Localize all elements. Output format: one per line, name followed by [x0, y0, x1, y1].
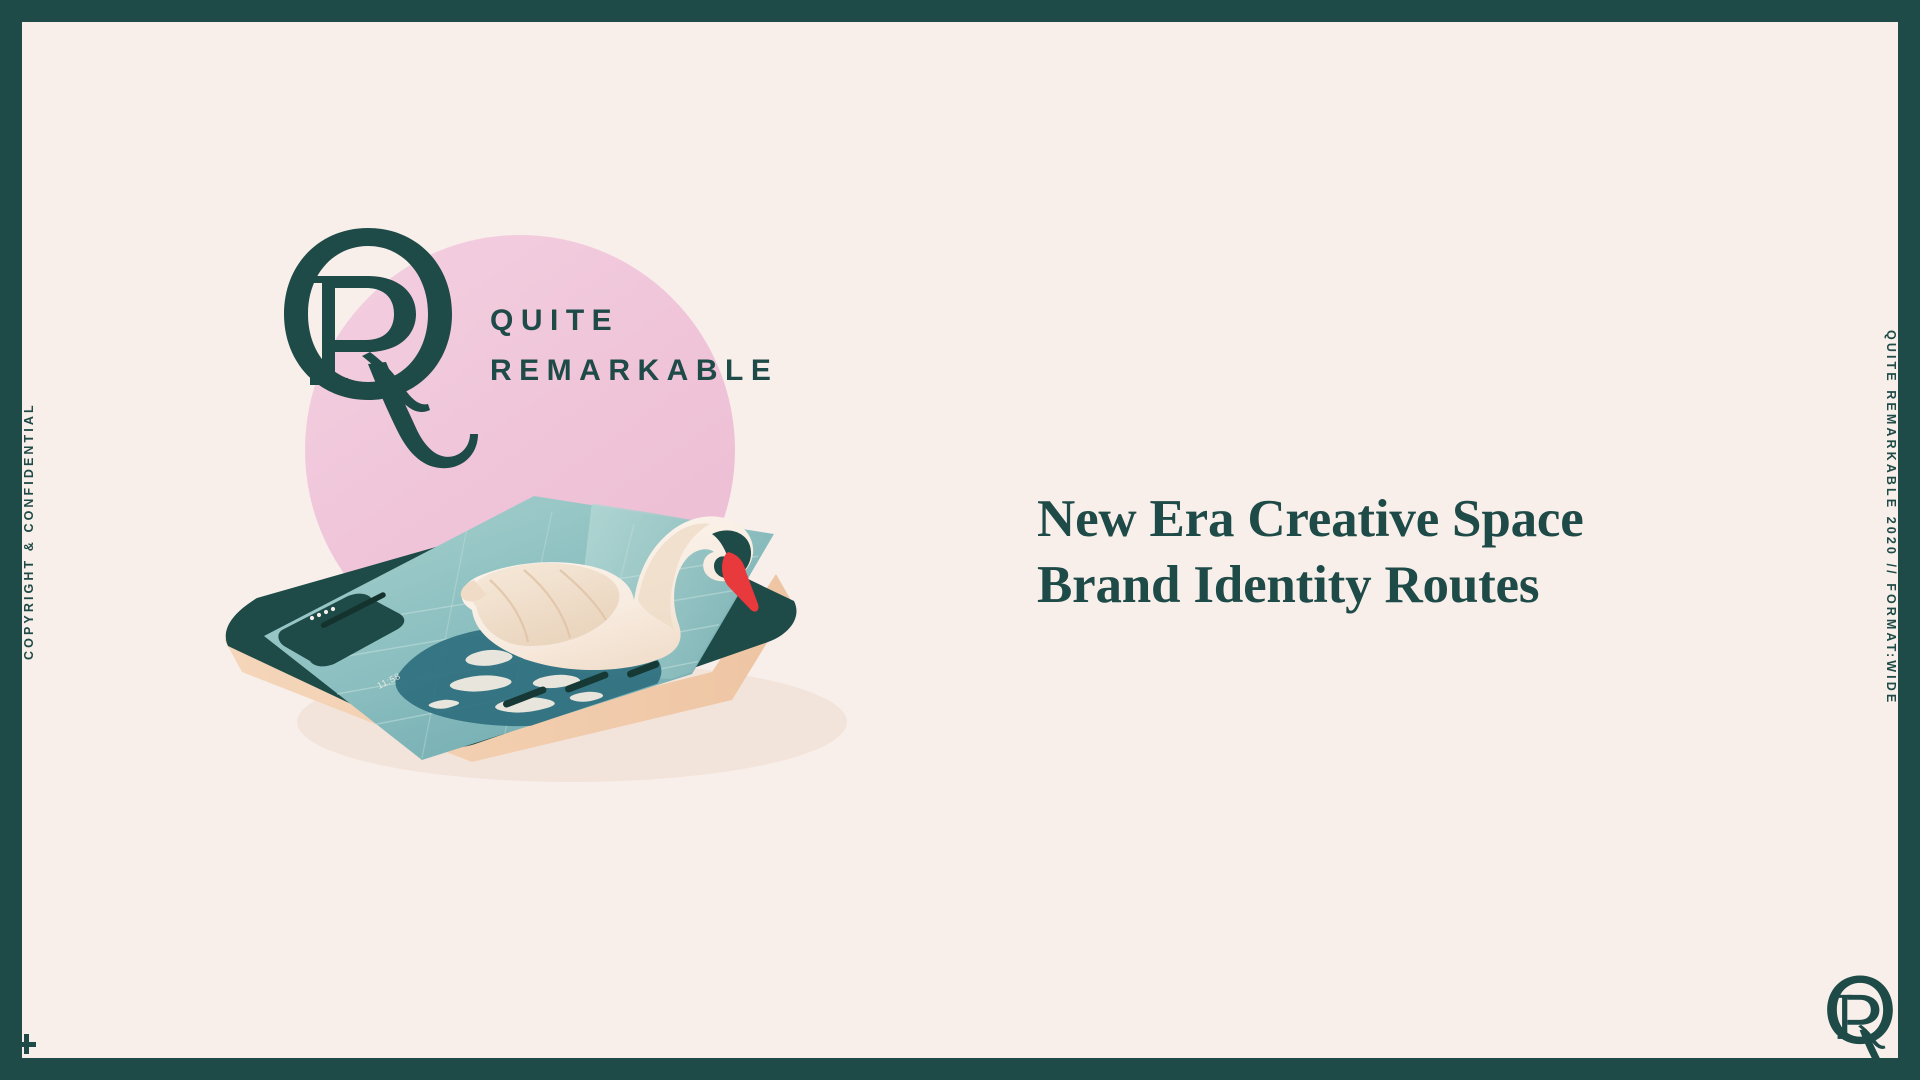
- wordmark-line1: QUITE: [490, 304, 619, 337]
- plus-icon: [16, 1034, 36, 1054]
- page-title: New Era Creative Space Brand Identity Ro…: [1037, 487, 1777, 618]
- corner-logo-mark: [1804, 962, 1898, 1058]
- headline-line-2: Brand Identity Routes: [1037, 553, 1777, 619]
- qr-monogram-icon-small: [1827, 975, 1898, 1058]
- slide-frame: 11:58: [0, 0, 1920, 1080]
- slide-canvas: 11:58: [22, 22, 1898, 1058]
- headline-line-1: New Era Creative Space: [1037, 487, 1777, 553]
- right-vertical-label: QUITE REMARKABLE 2020 // FORMAT:WIDE: [1884, 330, 1898, 705]
- brand-artwork: 11:58: [172, 202, 932, 902]
- left-vertical-label: COPYRIGHT & CONFIDENTIAL: [22, 402, 36, 660]
- wordmark-line2: REMARKABLE: [490, 354, 778, 387]
